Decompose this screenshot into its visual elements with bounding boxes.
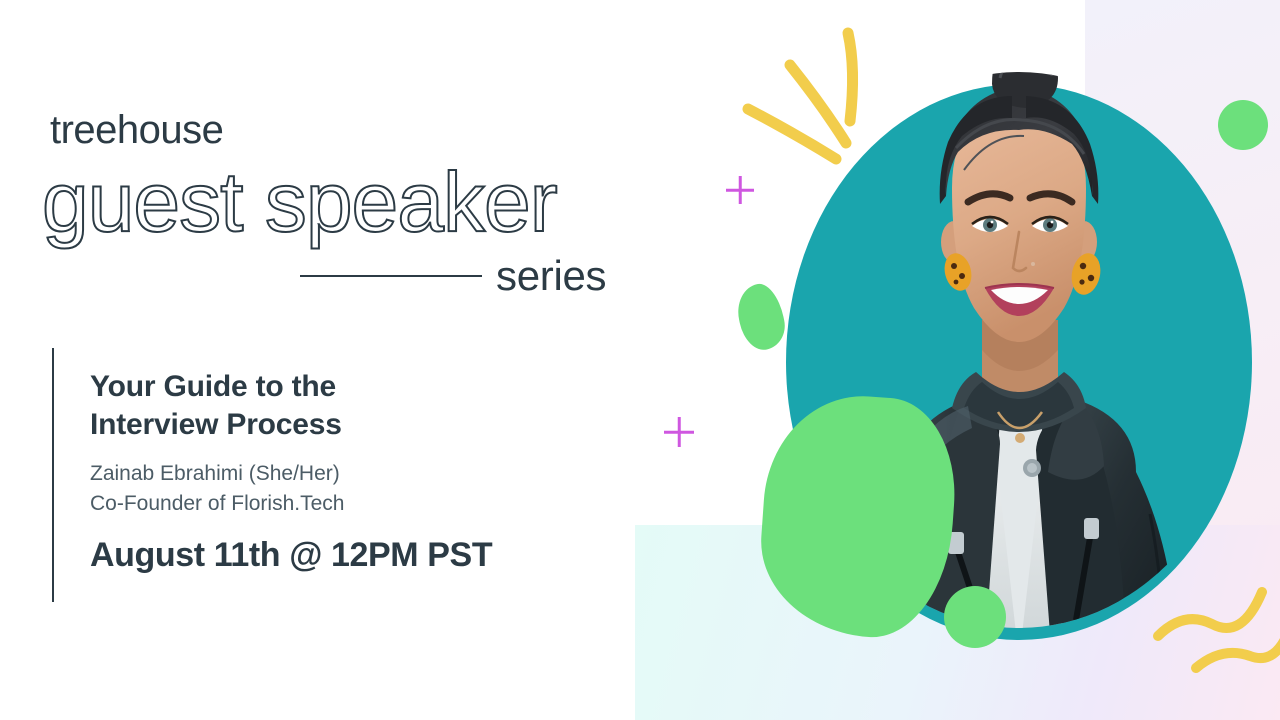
green-circle-top [1218, 100, 1268, 150]
series-row: series [300, 252, 630, 300]
session-details: Your Guide to the Interview Process Zain… [90, 368, 630, 575]
speaker-info: Zainab Ebrahimi (She/Her) Co-Founder of … [90, 459, 630, 519]
series-label: series [496, 252, 606, 300]
treehouse-logo: treehouse [50, 108, 223, 153]
series-divider-rule [300, 275, 482, 277]
green-blob-small [733, 280, 790, 354]
session-title: Your Guide to the Interview Process [90, 368, 630, 445]
session-datetime: August 11th @ 12PM PST [90, 536, 630, 575]
green-circle-bottom [944, 586, 1006, 648]
yellow-sparkle-lines-icon [740, 25, 900, 185]
headline-text: guest speaker [42, 158, 662, 246]
speaker-role: Co-Founder of Florish.Tech [90, 489, 630, 519]
vertical-accent-rule [52, 348, 54, 602]
speaker-name: Zainab Ebrahimi (She/Her) [90, 459, 630, 489]
promo-slide: treehouse guest speaker series Your Guid… [0, 0, 1280, 720]
plus-mark-middle-icon [664, 417, 694, 447]
yellow-squiggle-lines-icon [1150, 570, 1280, 700]
session-title-line2: Interview Process [90, 406, 630, 444]
session-title-line1: Your Guide to the [90, 368, 630, 406]
headline-block: guest speaker [42, 158, 662, 246]
